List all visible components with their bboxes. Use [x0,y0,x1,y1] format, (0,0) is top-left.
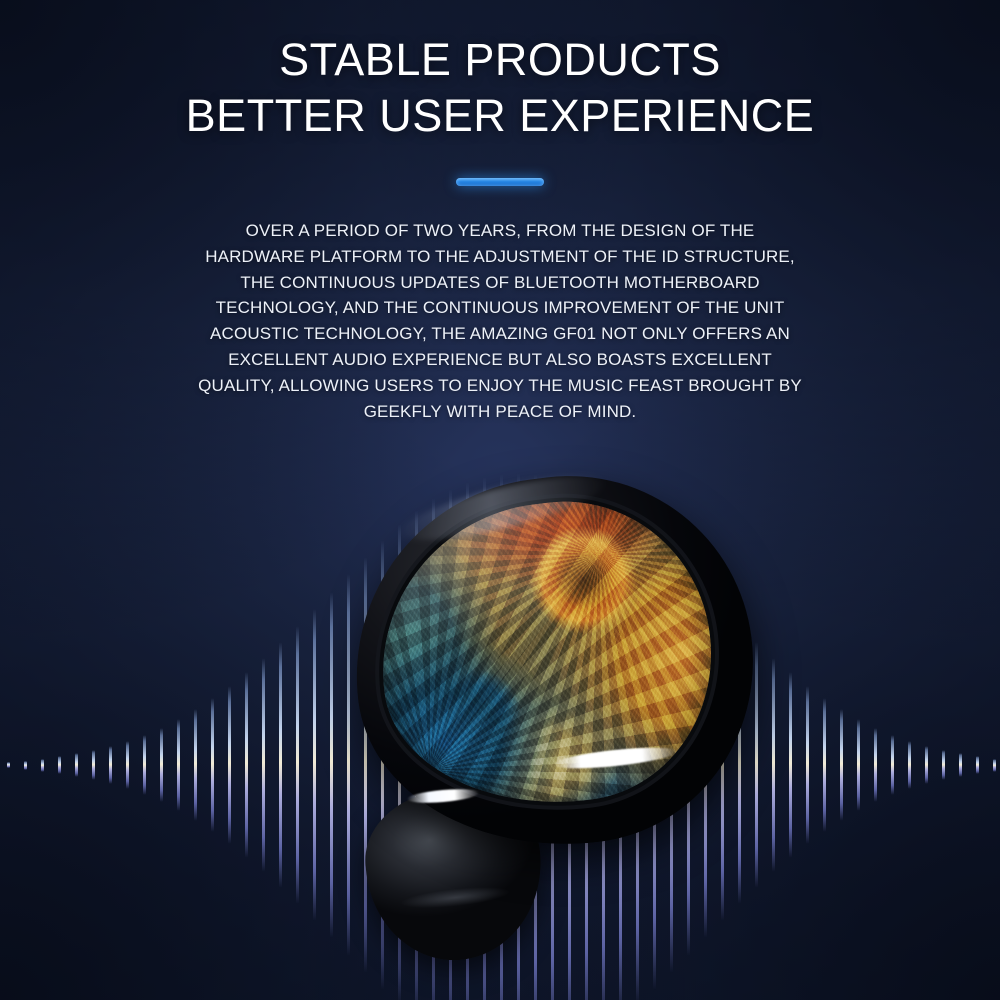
description-line: QUALITY, ALLOWING USERS TO ENJOY THE MUS… [150,373,850,399]
waveform-bar [75,753,78,777]
waveform-bar [126,741,129,789]
headline-line-2: BETTER USER EXPERIENCE [0,88,1000,144]
waveform-bar [806,686,809,844]
waveform-bar [279,642,282,888]
earphone-product-image [345,472,765,902]
waveform-bar [228,686,231,844]
waveform-bar [296,626,299,904]
waveform-bar [109,746,112,784]
description-line: HARDWARE PLATFORM TO THE ADJUSTMENT OF T… [150,244,850,270]
divider-bar [456,178,544,186]
waveform-bar [58,756,61,774]
waveform-bar [211,698,214,832]
waveform-bar [330,592,333,938]
waveform-bar [874,728,877,802]
description-line: EXCELLENT AUDIO EXPERIENCE BUT ALSO BOAS… [150,347,850,373]
description-line: THE CONTINUOUS UPDATES OF BLUETOOTH MOTH… [150,270,850,296]
description-line: OVER A PERIOD OF TWO YEARS, FROM THE DES… [150,218,850,244]
waveform-bar [262,658,265,872]
waveform-bar [959,753,962,777]
accent-divider [0,178,1000,186]
description-paragraph: OVER A PERIOD OF TWO YEARS, FROM THE DES… [150,218,850,424]
waveform-bar [823,698,826,832]
waveform-bar [942,750,945,780]
waveform-bar [41,759,44,772]
waveform-bar [177,719,180,811]
waveform-bar [976,756,979,774]
description-line: ACOUSTIC TECHNOLOGY, THE AMAZING GF01 NO… [150,321,850,347]
waveform-bar [313,609,316,921]
page-title: STABLE PRODUCTS BETTER USER EXPERIENCE [0,32,1000,144]
waveform-bar [194,709,197,821]
waveform-bar [92,750,95,780]
description-line: TECHNOLOGY, AND THE CONTINUOUS IMPROVEME… [150,295,850,321]
waveform-bar [925,746,928,784]
waveform-bar [772,658,775,872]
product-banner: STABLE PRODUCTS BETTER USER EXPERIENCE O… [0,0,1000,1000]
waveform-bar [891,735,894,795]
waveform-bar [245,672,248,858]
waveform-bar [789,672,792,858]
waveform-bar [24,761,27,770]
headline-line-1: STABLE PRODUCTS [0,32,1000,88]
waveform-bar [160,728,163,802]
waveform-bar [908,741,911,789]
waveform-bar [143,735,146,795]
waveform-bar [857,719,860,811]
waveform-bar [993,759,996,772]
waveform-bar [840,709,843,821]
waveform-bar [7,762,10,768]
description-line: GEEKFLY WITH PEACE OF MIND. [150,399,850,425]
